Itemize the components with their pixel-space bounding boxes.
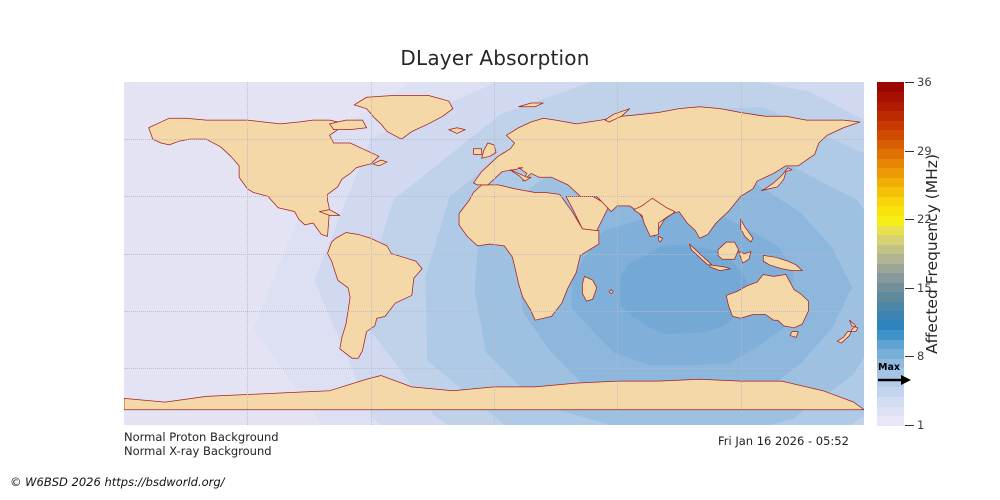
colorbar-segment [877, 149, 904, 159]
landmass [718, 242, 739, 259]
colorbar-segment [877, 330, 904, 340]
colorbar-tick-mark [905, 219, 914, 220]
colorbar-segment [877, 130, 904, 140]
colorbar-segment [877, 254, 904, 264]
colorbar-segment [877, 82, 904, 92]
colorbar-segment [877, 187, 904, 197]
landmass [149, 118, 379, 236]
colorbar-segment [877, 234, 904, 244]
landmass [473, 149, 481, 155]
landmass [354, 95, 453, 139]
colorbar-segment [877, 406, 904, 416]
colorbar-segment [877, 292, 904, 302]
figure-canvas: DLayer Absorption 1815222936 Affected Fr… [0, 0, 1000, 500]
colorbar-segment [877, 196, 904, 206]
graticule-meridian [247, 82, 248, 425]
colorbar-segment [877, 349, 904, 359]
colorbar-segment [877, 339, 904, 349]
proton-background-note: Normal Proton Background [124, 430, 279, 444]
xray-background-note: Normal X-ray Background [124, 444, 272, 458]
colorbar-segment [877, 101, 904, 111]
colorbar-segment [877, 225, 904, 235]
colorbar-tick-mark [905, 82, 914, 83]
graticule-meridian [371, 82, 372, 425]
timestamp-label: Fri Jan 16 2026 - 05:52 [718, 434, 849, 448]
colorbar-tick-mark [905, 356, 914, 357]
colorbar-segment [877, 177, 904, 187]
colorbar-segment [877, 92, 904, 102]
colorbar-segment [877, 244, 904, 254]
colorbar-segment [877, 301, 904, 311]
arrow-right-icon [877, 373, 917, 387]
landmass [449, 128, 465, 134]
colorbar-axis-label-text: Affected Frequency (MHz) [923, 154, 941, 354]
credit-label: © W6BSD 2026 https://bsdworld.org/ [10, 475, 225, 489]
colorbar-tick-mark [905, 151, 914, 152]
landmass [726, 274, 808, 327]
colorbar-tick-mark [905, 288, 914, 289]
colorbar-segment [877, 168, 904, 178]
colorbar-tick-mark [905, 425, 914, 426]
map-axes[interactable] [124, 82, 864, 425]
colorbar-segment [877, 111, 904, 121]
map-clip [124, 82, 864, 425]
colorbar-segment [877, 282, 904, 292]
colorbar-segment [877, 263, 904, 273]
colorbar-segment [877, 206, 904, 216]
landmass [609, 290, 613, 294]
landmass [658, 236, 662, 242]
max-annotation-label: Max [878, 362, 900, 373]
landmass [763, 255, 802, 270]
colorbar-segment [877, 158, 904, 168]
landmass [790, 332, 798, 338]
graticule-meridian [494, 82, 495, 425]
landmass [710, 265, 731, 271]
landmass [519, 103, 544, 107]
landmass [328, 233, 423, 359]
landmass [837, 320, 858, 343]
colorbar-segment [877, 311, 904, 321]
colorbar-segment [877, 139, 904, 149]
colorbar-segment [877, 396, 904, 406]
colorbar-segment [877, 215, 904, 225]
graticule-meridian [741, 82, 742, 425]
landmass [741, 219, 753, 242]
colorbar-segment [877, 120, 904, 130]
max-annotation: Max [877, 362, 927, 388]
colorbar-segment [877, 320, 904, 330]
colorbar-segment [877, 387, 904, 397]
graticule-meridian [617, 82, 618, 425]
landmass [373, 160, 387, 166]
colorbar-segment [877, 415, 904, 425]
colorbar-segment [877, 273, 904, 283]
landmass [582, 276, 596, 301]
page-title: DLayer Absorption [0, 46, 990, 70]
